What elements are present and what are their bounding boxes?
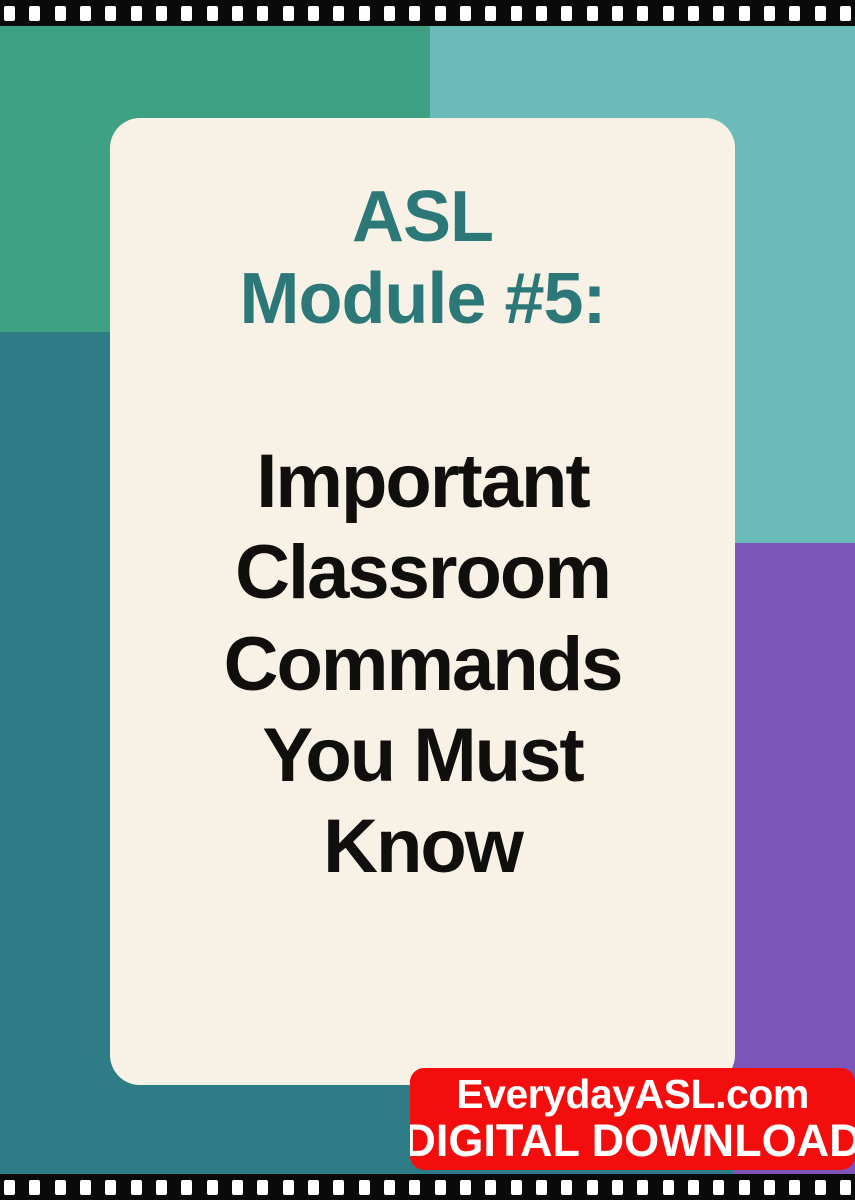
filmstrip-sprocket-hole	[131, 1180, 142, 1195]
filmstrip-sprocket-hole	[308, 6, 319, 21]
filmstrip-sprocket-hole	[156, 6, 167, 21]
watermark-badge: EverydayASL.com DIGITAL DOWNLOAD	[410, 1068, 855, 1170]
filmstrip-sprocket-hole	[637, 1180, 648, 1195]
filmstrip-sprocket-hole	[688, 6, 699, 21]
card-body-line-5: Know	[224, 801, 622, 892]
filmstrip-sprocket-hole	[29, 1180, 40, 1195]
filmstrip-sprocket-hole	[587, 1180, 598, 1195]
filmstrip-sprocket-hole	[663, 1180, 674, 1195]
watermark-site-label: EverydayASL.com	[456, 1074, 809, 1116]
filmstrip-sprocket-hole	[181, 6, 192, 21]
poster-canvas: ASL Module #5: Important Classroom Comma…	[0, 0, 855, 1200]
filmstrip-sprocket-hole	[485, 6, 496, 21]
card-heading: ASL Module #5:	[239, 154, 605, 340]
card-body-line-3: Commands	[224, 619, 622, 710]
filmstrip-sprocket-hole	[485, 1180, 496, 1195]
filmstrip-sprocket-hole	[840, 1180, 851, 1195]
filmstrip-bottom	[0, 1174, 855, 1200]
filmstrip-sprocket-hole	[612, 6, 623, 21]
filmstrip-sprocket-hole	[561, 6, 572, 21]
filmstrip-sprocket-hole	[435, 6, 446, 21]
filmstrip-sprocket-hole	[587, 6, 598, 21]
filmstrip-sprocket-hole	[359, 1180, 370, 1195]
filmstrip-sprocket-hole	[333, 1180, 344, 1195]
filmstrip-sprocket-hole	[460, 1180, 471, 1195]
filmstrip-sprocket-hole	[536, 1180, 547, 1195]
filmstrip-sprocket-hole	[181, 1180, 192, 1195]
filmstrip-sprocket-hole	[4, 6, 15, 21]
filmstrip-sprocket-hole	[511, 6, 522, 21]
filmstrip-sprocket-hole	[789, 6, 800, 21]
filmstrip-sprocket-hole	[713, 1180, 724, 1195]
filmstrip-sprocket-hole	[460, 6, 471, 21]
filmstrip-sprocket-hole	[232, 6, 243, 21]
filmstrip-sprocket-hole	[257, 6, 268, 21]
filmstrip-sprocket-hole	[840, 6, 851, 21]
filmstrip-sprocket-hole	[333, 6, 344, 21]
filmstrip-sprocket-hole	[80, 1180, 91, 1195]
filmstrip-top	[0, 0, 855, 26]
card-body-line-4: You Must	[224, 710, 622, 801]
filmstrip-sprocket-hole	[232, 1180, 243, 1195]
filmstrip-sprocket-hole	[359, 6, 370, 21]
filmstrip-sprocket-hole	[435, 1180, 446, 1195]
filmstrip-sprocket-hole	[384, 6, 395, 21]
filmstrip-sprocket-hole	[789, 1180, 800, 1195]
filmstrip-sprocket-hole	[55, 6, 66, 21]
filmstrip-sprocket-hole	[207, 1180, 218, 1195]
filmstrip-sprocket-hole	[612, 1180, 623, 1195]
filmstrip-sprocket-hole	[207, 6, 218, 21]
filmstrip-sprocket-hole	[663, 6, 674, 21]
filmstrip-sprocket-hole	[511, 1180, 522, 1195]
filmstrip-sprocket-hole	[815, 6, 826, 21]
filmstrip-sprocket-hole	[409, 6, 420, 21]
card-body-line-1: Important	[224, 436, 622, 527]
filmstrip-sprocket-hole	[739, 6, 750, 21]
card-heading-line-2: Module #5:	[239, 258, 605, 340]
card-heading-line-1: ASL	[239, 176, 605, 258]
filmstrip-sprocket-hole	[637, 6, 648, 21]
filmstrip-sprocket-hole	[283, 6, 294, 21]
filmstrip-sprocket-hole	[739, 1180, 750, 1195]
filmstrip-sprocket-hole	[156, 1180, 167, 1195]
filmstrip-sprocket-hole	[257, 1180, 268, 1195]
filmstrip-sprocket-hole	[308, 1180, 319, 1195]
filmstrip-sprocket-hole	[29, 6, 40, 21]
filmstrip-sprocket-hole	[561, 1180, 572, 1195]
filmstrip-sprocket-hole	[764, 6, 775, 21]
filmstrip-sprocket-hole	[384, 1180, 395, 1195]
filmstrip-sprocket-hole	[105, 1180, 116, 1195]
card-body-line-2: Classroom	[224, 527, 622, 618]
watermark-format-label: DIGITAL DOWNLOAD	[410, 1116, 855, 1164]
filmstrip-sprocket-hole	[131, 6, 142, 21]
filmstrip-sprocket-hole	[409, 1180, 420, 1195]
filmstrip-sprocket-hole	[105, 6, 116, 21]
filmstrip-sprocket-hole	[536, 6, 547, 21]
filmstrip-sprocket-hole	[688, 1180, 699, 1195]
title-card: ASL Module #5: Important Classroom Comma…	[110, 118, 735, 1085]
filmstrip-sprocket-hole	[764, 1180, 775, 1195]
filmstrip-sprocket-hole	[80, 6, 91, 21]
filmstrip-sprocket-hole	[713, 6, 724, 21]
filmstrip-sprocket-hole	[815, 1180, 826, 1195]
filmstrip-sprocket-hole	[283, 1180, 294, 1195]
filmstrip-sprocket-hole	[4, 1180, 15, 1195]
card-body: Important Classroom Commands You Must Kn…	[224, 340, 622, 892]
filmstrip-sprocket-hole	[55, 1180, 66, 1195]
